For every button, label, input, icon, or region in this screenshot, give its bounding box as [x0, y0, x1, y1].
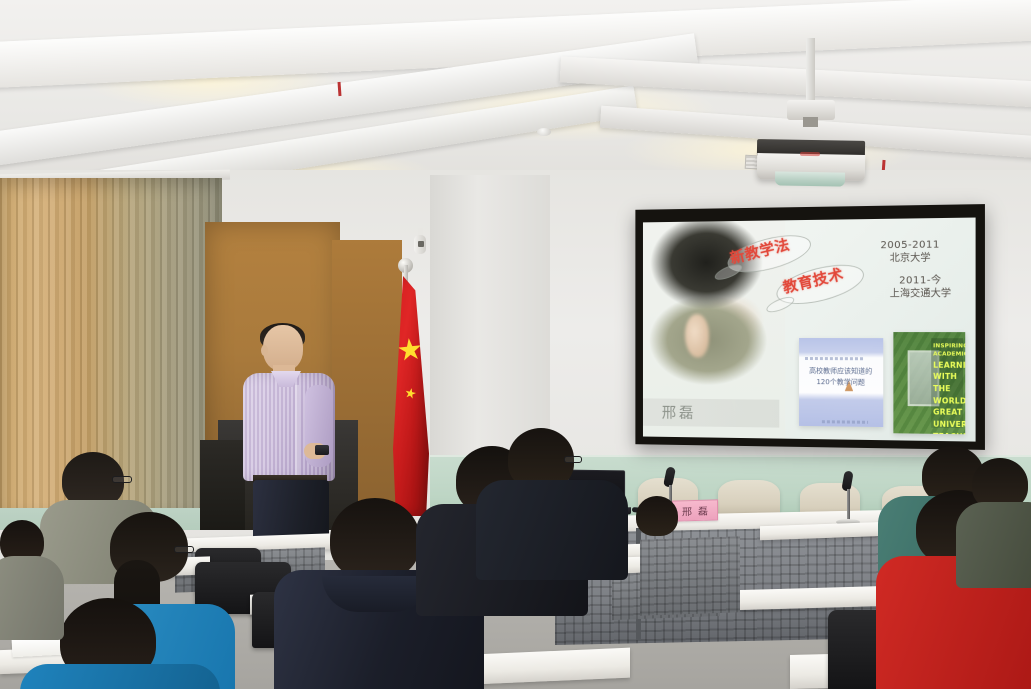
flag-star-small-icon [404, 387, 417, 400]
projector-pole [806, 38, 815, 106]
wall-camera-icon [414, 228, 426, 254]
book-series: INSPIRING ACADEMICS [933, 342, 961, 359]
portrait-hand [685, 314, 709, 357]
affiliation-years: 2011-今 [873, 274, 969, 288]
audience-member [966, 458, 1031, 568]
book-title: LEARNING WITH THE WORLD'S GREAT UNIVERSI… [933, 359, 961, 434]
projected-slide: 新教学法 教育技术 2005-2011 北京大学 2011-今 上海交通大学 高… [643, 218, 976, 442]
microphone-gooseneck [847, 489, 850, 521]
book-cover-subtitle-rule [805, 357, 864, 360]
student-desk-panel [640, 536, 740, 615]
audience-member [0, 520, 70, 630]
audience-head [636, 496, 678, 536]
slide-name-banner: 邢磊 [643, 398, 779, 428]
book-cover-publisher-rule [822, 420, 868, 424]
book-cover-title: 高校教师应该知道的 120个教学问题 [804, 366, 878, 388]
book-cover-chinese: 高校教师应该知道的 120个教学问题 [799, 338, 883, 427]
audience-torso [20, 664, 220, 689]
slide-affiliation-1: 2005-2011 北京大学 [859, 238, 962, 266]
affiliation-years: 2005-2011 [859, 238, 962, 253]
camera-lens-icon [418, 241, 424, 247]
slide-affiliation-2: 2011-今 上海交通大学 [873, 274, 969, 302]
book-cover-english: INSPIRING ACADEMICS LEARNING WITH THE WO… [893, 332, 965, 435]
audience-member [636, 470, 682, 530]
name-card-given: 磊 [698, 503, 708, 518]
eyeglasses-icon [564, 456, 582, 463]
audience-torso [956, 502, 1031, 588]
flag-star-large-icon [397, 337, 423, 363]
smoke-detector-icon [537, 128, 551, 136]
book-cover-text-band: INSPIRING ACADEMICS LEARNING WITH THE WO… [931, 338, 963, 429]
name-card-surname: 邢 [682, 503, 692, 518]
projector-status-led [800, 152, 820, 156]
projector-mount [787, 100, 835, 120]
audience-torso [476, 480, 628, 580]
presenter-shirt-placket [295, 385, 299, 477]
projector-lens-icon [775, 171, 845, 186]
affiliation-org: 上海交通大学 [873, 287, 969, 301]
slide-speaker-name: 邢磊 [662, 402, 697, 423]
audience-torso [0, 556, 64, 640]
affiliation-org: 北京大学 [859, 252, 962, 267]
presentation-clicker[interactable] [315, 445, 329, 455]
audience-member [480, 428, 620, 558]
audience-head [330, 498, 420, 580]
projection-screen: 新教学法 教育技术 2005-2011 北京大学 2011-今 上海交通大学 高… [635, 204, 985, 450]
eyeglasses-icon [112, 476, 132, 483]
presenter-ear [261, 345, 268, 356]
eyeglasses-icon [174, 546, 194, 553]
lecture-hall-photo: 新教学法 教育技术 2005-2011 北京大学 2011-今 上海交通大学 高… [0, 0, 1031, 689]
